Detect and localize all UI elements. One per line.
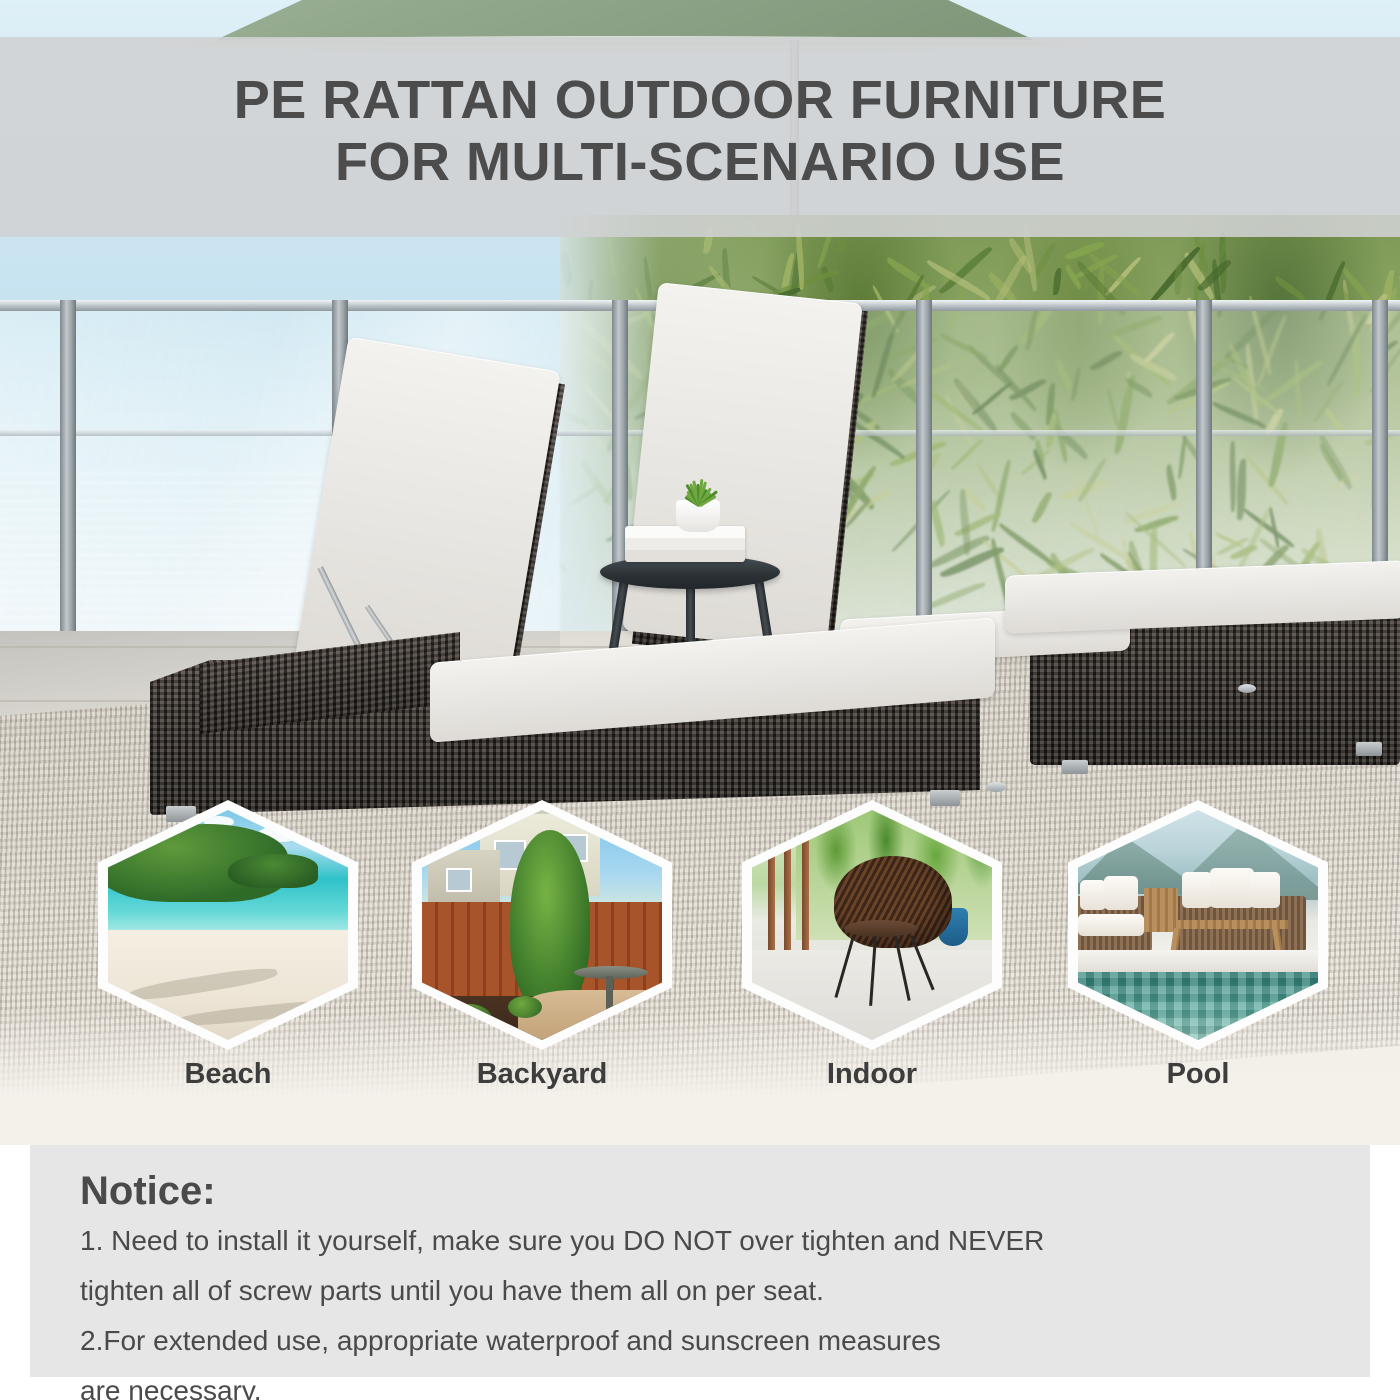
scenario-item-backyard[interactable]: Backyard: [412, 800, 672, 1050]
scenario-label-pool: Pool: [1068, 1058, 1328, 1091]
railing-post: [60, 300, 76, 645]
scenario-label-indoor: Indoor: [742, 1058, 1002, 1091]
lounger-foot: [1356, 742, 1382, 756]
potted-plant-leaves: [672, 476, 726, 506]
product-marketing-image: PE RATTAN OUTDOOR FURNITURE FOR MULTI-SC…: [0, 0, 1400, 1400]
scenario-hexagon-row: Beach: [0, 800, 1400, 1145]
notice-line-1: 1. Need to install it yourself, make sur…: [30, 1213, 1370, 1263]
notice-heading: Notice:: [30, 1145, 1370, 1213]
railing-post: [916, 300, 932, 645]
brand-badge-right: [1238, 684, 1256, 693]
notice-line-2: tighten all of screw parts until you hav…: [30, 1263, 1370, 1313]
scenario-item-pool[interactable]: Pool: [1068, 800, 1328, 1050]
lounger-foot: [1062, 760, 1088, 774]
page-title-line1: PE RATTAN OUTDOOR FURNITURE: [0, 37, 1400, 131]
scenario-label-backyard: Backyard: [412, 1058, 672, 1091]
page-title-line2: FOR MULTI-SCENARIO USE: [0, 131, 1400, 193]
lounger-back-cushion-right: [622, 282, 862, 652]
title-banner: PE RATTAN OUTDOOR FURNITURE FOR MULTI-SC…: [0, 37, 1400, 237]
brand-badge-left: [986, 782, 1006, 792]
scenario-label-beach: Beach: [98, 1058, 358, 1091]
scenario-item-indoor[interactable]: Indoor: [742, 800, 1002, 1050]
notice-line-3: 2.For extended use, appropriate waterpro…: [30, 1313, 1370, 1363]
notice-line-4: are necessary.: [30, 1363, 1370, 1400]
notice-panel: Notice: 1. Need to install it yourself, …: [30, 1145, 1370, 1377]
scenario-item-beach[interactable]: Beach: [98, 800, 358, 1050]
